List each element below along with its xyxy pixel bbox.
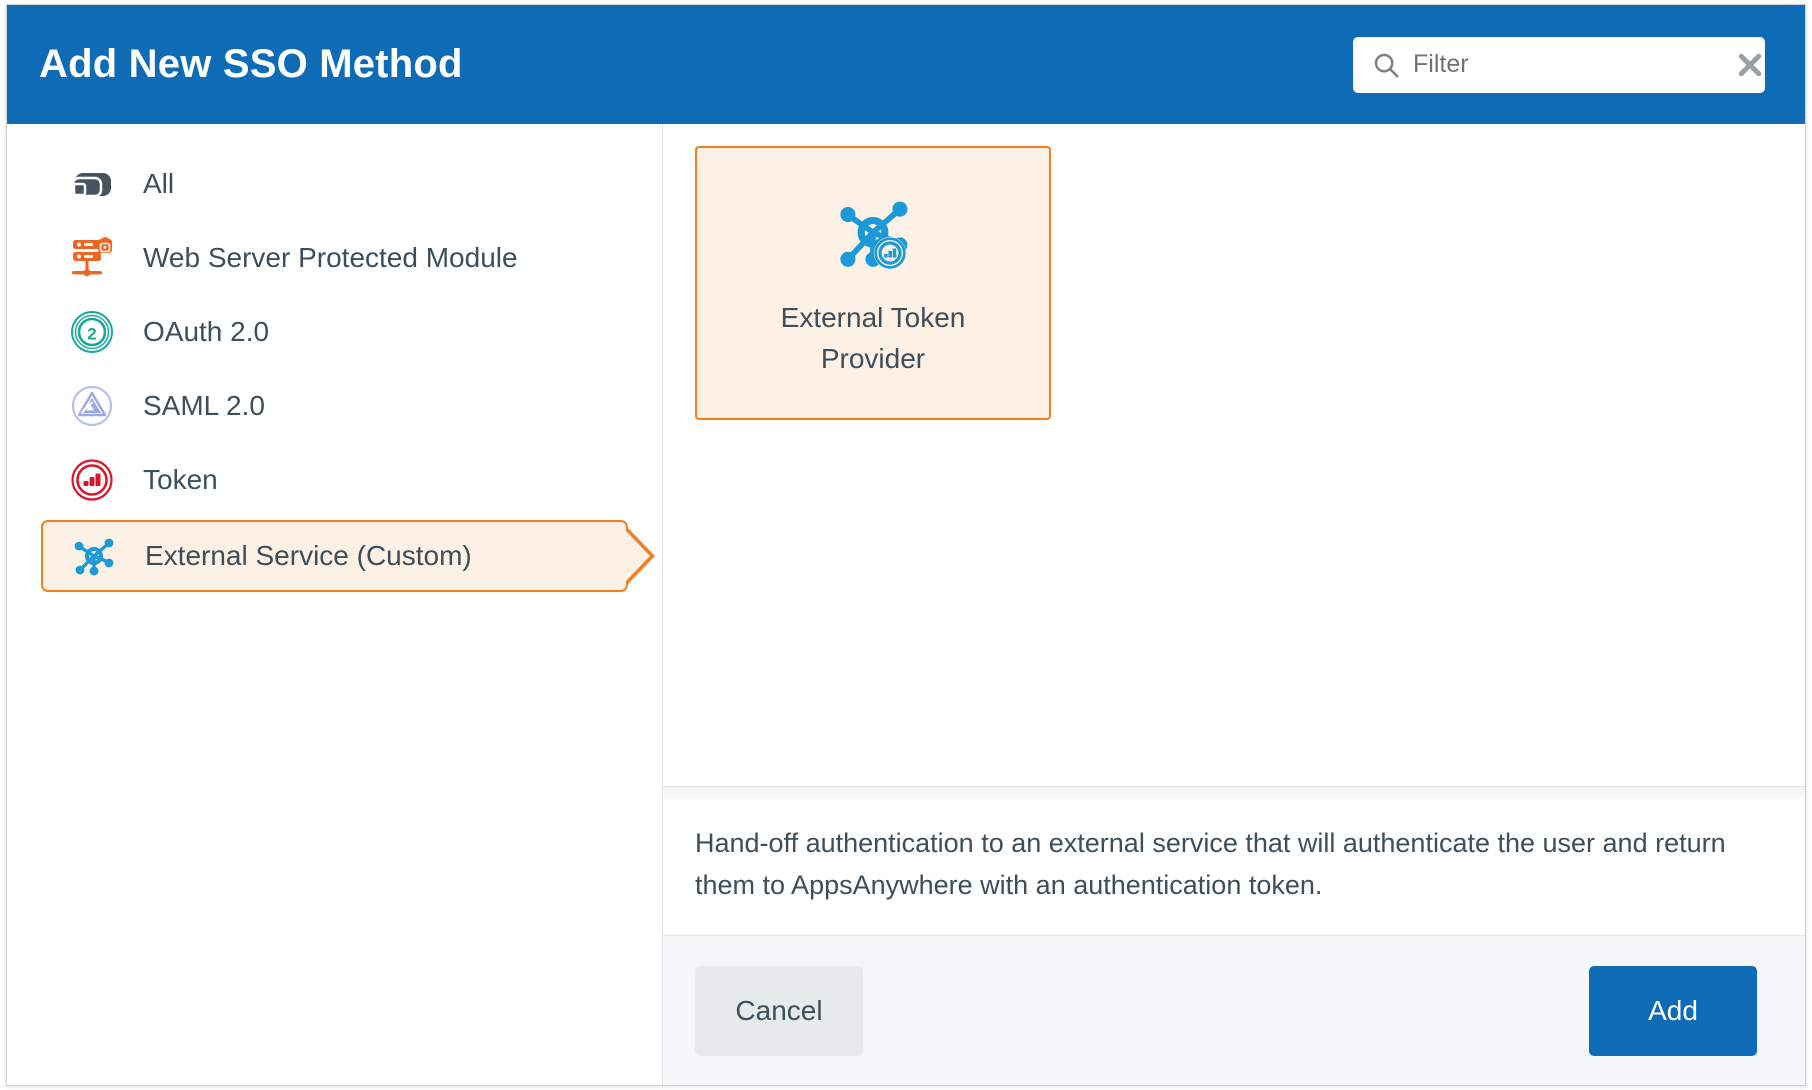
oauth-circle-two-icon: 2 [65, 309, 119, 355]
method-card-grid: External Token Provider [663, 124, 1805, 786]
sidebar-item-label: SAML 2.0 [143, 390, 265, 422]
filter-search-box[interactable] [1353, 37, 1765, 93]
network-hub-icon [67, 532, 121, 580]
dialog-footer: Cancel Add [663, 935, 1805, 1085]
cancel-button[interactable]: Cancel [695, 966, 863, 1056]
token-circle-icon [65, 457, 119, 503]
method-card-external-token-provider[interactable]: External Token Provider [695, 146, 1051, 420]
sidebar-item-all[interactable]: All [41, 150, 628, 218]
page-title: Add New SSO Method [39, 42, 463, 87]
selected-pointer-arrow-fill [626, 531, 650, 581]
method-description-text: Hand-off authentication to an external s… [695, 823, 1749, 907]
search-input[interactable] [1413, 50, 1735, 79]
search-icon [1371, 50, 1401, 80]
sidebar-item-token[interactable]: Token [41, 446, 628, 514]
dialog-header: Add New SSO Method [7, 5, 1805, 124]
sidebar-item-external-service-custom[interactable]: External Service (Custom) [41, 520, 628, 592]
method-description-panel: Hand-off authentication to an external s… [663, 786, 1805, 935]
add-button[interactable]: Add [1589, 966, 1757, 1056]
network-hub-token-icon [830, 190, 916, 282]
svg-text:2: 2 [87, 325, 96, 344]
sidebar-item-label: All [143, 168, 174, 200]
category-sidebar: All [7, 124, 663, 1085]
layers-icon [65, 164, 119, 204]
sidebar-item-label: Web Server Protected Module [143, 242, 518, 274]
saml-triangle-swirl-icon [65, 383, 119, 429]
sidebar-item-oauth-2-0[interactable]: 2 OAuth 2.0 [41, 298, 628, 366]
server-lock-icon [65, 235, 119, 281]
dialog-body: All [7, 124, 1805, 1085]
clear-icon[interactable] [1735, 48, 1765, 82]
sidebar-item-label: OAuth 2.0 [143, 316, 269, 348]
method-content-pane: External Token Provider Hand-off authent… [663, 124, 1805, 1085]
add-sso-method-dialog: Add New SSO Method [6, 4, 1806, 1086]
sidebar-item-label: External Service (Custom) [145, 540, 472, 572]
sidebar-item-saml-2-0[interactable]: SAML 2.0 [41, 372, 628, 440]
method-card-label: External Token Provider [758, 298, 988, 379]
sidebar-item-label: Token [143, 464, 218, 496]
sidebar-item-web-server-protected-module[interactable]: Web Server Protected Module [41, 224, 628, 292]
